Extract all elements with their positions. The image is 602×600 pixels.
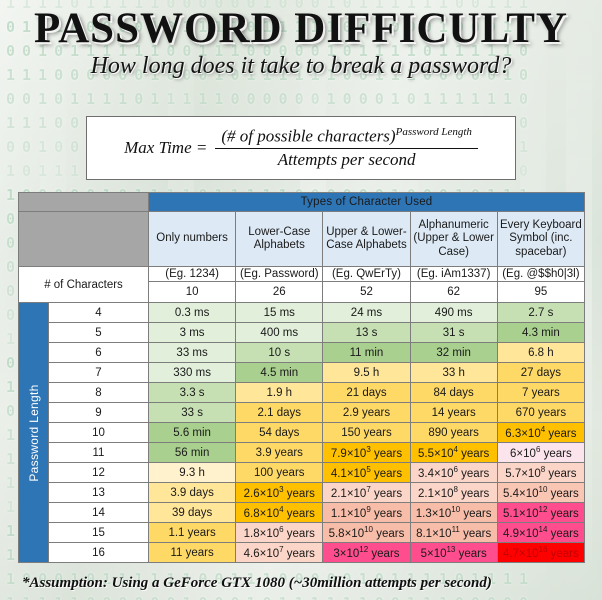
crack-time-cell: 330 ms xyxy=(149,363,236,383)
column-header-3: Alphanumeric (Upper & Lower Case) xyxy=(410,212,497,267)
value-exponent: 10 xyxy=(451,505,460,514)
row-length-label: 15 xyxy=(49,523,149,543)
value-mantissa: 1.3×10 xyxy=(416,508,452,520)
header: PASSWORD DIFFICULTY How long does it tak… xyxy=(0,0,602,112)
crack-time-cell: 6.3×104 years xyxy=(497,423,584,443)
value-mantissa: 6.3×10 xyxy=(505,428,541,440)
row-length-label: 13 xyxy=(49,483,149,503)
crack-time-cell: 670 years xyxy=(497,403,584,423)
value-mantissa: 4.1×10 xyxy=(331,468,367,480)
value-mantissa: 4.9×10 xyxy=(503,528,539,540)
crack-time-cell: 4.5 min xyxy=(236,363,323,383)
value-unit: years xyxy=(371,488,402,500)
crack-time-cell: 3 ms xyxy=(149,323,236,343)
crack-time-cell: 7.9×103 years xyxy=(323,443,410,463)
grid: Types of Character UsedOnly numbersLower… xyxy=(18,192,585,563)
table-header-row: Types of Character Used xyxy=(19,193,585,212)
column-names-row: Only numbersLower-Case AlphabetsUpper & … xyxy=(19,212,585,267)
table-row: 53 ms400 ms13 s31 s4.3 min xyxy=(19,323,585,343)
value-unit: years xyxy=(540,448,571,460)
crack-time-cell: 4.9×1014 years xyxy=(497,523,584,543)
crack-time-cell: 5×1013 years xyxy=(410,543,497,563)
crack-time-cell: 3.4×106 years xyxy=(410,463,497,483)
crack-time-cell: 3.3 s xyxy=(149,383,236,403)
row-length-label: 7 xyxy=(49,363,149,383)
table-row: 129.3 h100 years4.1×105 years3.4×106 yea… xyxy=(19,463,585,483)
crack-time-cell: 1.1×109 years xyxy=(323,503,410,523)
assumption-note: *Assumption: Using a GeForce GTX 1080 (~… xyxy=(22,575,492,592)
value-exponent: 11 xyxy=(452,525,460,534)
value-mantissa: 2.6×10 xyxy=(244,488,280,500)
column-header-0: Only numbers xyxy=(149,212,236,267)
crack-time-cell: 11 min xyxy=(323,343,410,363)
crack-time-cell: 11 years xyxy=(149,543,236,563)
crack-time-cell: 4.7×1016 years xyxy=(497,543,584,563)
crack-time-cell: 1.3×1010 years xyxy=(410,503,497,523)
crack-time-cell: 4.3 min xyxy=(497,323,584,343)
crack-time-cell: 3×1012 years xyxy=(323,543,410,563)
value-unit: years xyxy=(284,508,315,520)
crack-time-cell: 5.7×108 years xyxy=(497,463,584,483)
crack-time-cell: 490 ms xyxy=(410,303,497,323)
value-mantissa: 5×10 xyxy=(421,548,447,560)
crack-time-cell: 6.8×104 years xyxy=(236,503,323,523)
table-row: 933 s2.1 days2.9 years14 years670 years xyxy=(19,403,585,423)
value-mantissa: 3.4×10 xyxy=(418,468,454,480)
crack-time-cell: 24 ms xyxy=(323,303,410,323)
crack-time-cell: 5.5×104 years xyxy=(410,443,497,463)
crack-time-cell: 5.8×1010 years xyxy=(323,523,410,543)
value-unit: years xyxy=(371,468,402,480)
crack-time-cell: 0.3 ms xyxy=(149,303,236,323)
crack-time-cell: 33 h xyxy=(410,363,497,383)
value-unit: years xyxy=(455,548,486,560)
page-title: PASSWORD DIFFICULTY xyxy=(0,0,602,51)
table-row: 1156 min3.9 years7.9×103 years5.5×104 ye… xyxy=(19,443,585,463)
charset-size-1: 26 xyxy=(236,282,323,303)
table-row: 151.1 years1.8×106 years5.8×1010 years8.… xyxy=(19,523,585,543)
crack-time-cell: 9.5 h xyxy=(323,363,410,383)
crack-time-cell: 5.1×1012 years xyxy=(497,503,584,523)
table-row: Password Length40.3 ms15 ms24 ms490 ms2.… xyxy=(19,303,585,323)
crack-time-cell: 6.8 h xyxy=(497,343,584,363)
crack-time-cell: 14 years xyxy=(410,403,497,423)
value-unit: years xyxy=(547,528,578,540)
value-mantissa: 5.5×10 xyxy=(418,448,454,460)
formula-fraction: (# of possible characters)Password Lengt… xyxy=(215,126,478,170)
value-unit: years xyxy=(460,528,491,540)
value-mantissa: 3×10 xyxy=(333,548,359,560)
crack-time-cell: 2.6×103 years xyxy=(236,483,323,503)
crack-time-cell: 7 years xyxy=(497,383,584,403)
formula-exponent: Password Length xyxy=(396,126,472,138)
crack-time-cell: 2.1 days xyxy=(236,403,323,423)
row-length-label: 11 xyxy=(49,443,149,463)
crack-time-cell: 150 years xyxy=(323,423,410,443)
row-length-label: 16 xyxy=(49,543,149,563)
crack-time-cell: 1.8×106 years xyxy=(236,523,323,543)
column-example-0: (Eg. 1234) xyxy=(149,267,236,282)
row-length-label: 8 xyxy=(49,383,149,403)
value-unit: years xyxy=(547,548,578,560)
crack-time-cell: 6×106 years xyxy=(497,443,584,463)
crack-time-cell: 400 ms xyxy=(236,323,323,343)
table-row: 1439 days6.8×104 years1.1×109 years1.3×1… xyxy=(19,503,585,523)
crack-time-cell: 2.9 years xyxy=(323,403,410,423)
value-mantissa: 1.8×10 xyxy=(244,528,280,540)
value-mantissa: 4.7×10 xyxy=(503,548,539,560)
charset-size-3: 62 xyxy=(410,282,497,303)
crack-time-cell: 33 s xyxy=(149,403,236,423)
crack-time-cell: 13 s xyxy=(323,323,410,343)
column-header-4: Every Keyboard Symbol (inc. spacebar) xyxy=(497,212,584,267)
value-mantissa: 5.7×10 xyxy=(505,468,541,480)
footer: *Assumption: Using a GeForce GTX 1080 (~… xyxy=(0,566,602,600)
formula: Max Time = (# of possible characters)Pas… xyxy=(124,126,478,170)
value-unit: years xyxy=(284,488,315,500)
crack-time-cell: 39 days xyxy=(149,503,236,523)
crack-time-cell: 890 years xyxy=(410,423,497,443)
value-mantissa: 2.1×10 xyxy=(418,488,454,500)
value-mantissa: 5.4×10 xyxy=(503,488,539,500)
value-unit: years xyxy=(458,468,489,480)
charset-size-0: 10 xyxy=(149,282,236,303)
crack-time-cell: 54 days xyxy=(236,423,323,443)
value-mantissa: 2.1×10 xyxy=(331,488,367,500)
crack-time-cell: 3.9 days xyxy=(149,483,236,503)
table-row: 633 ms10 s11 min32 min6.8 h xyxy=(19,343,585,363)
crack-time-cell: 1.1 years xyxy=(149,523,236,543)
value-unit: years xyxy=(373,528,404,540)
side-label-password-length: Password Length xyxy=(19,303,49,563)
crack-time-cell: 5.4×1010 years xyxy=(497,483,584,503)
charset-size-2: 52 xyxy=(323,282,410,303)
formula-denominator: Attempts per second xyxy=(272,149,422,170)
corner-block xyxy=(19,193,149,212)
row-length-label: 9 xyxy=(49,403,149,423)
table-row: 133.9 days2.6×103 years2.1×107 years2.1×… xyxy=(19,483,585,503)
crack-time-cell: 8.1×1011 years xyxy=(410,523,497,543)
column-example-3: (Eg. iAm1337) xyxy=(410,267,497,282)
formula-lhs: Max Time = xyxy=(124,138,207,158)
value-mantissa: 5.8×10 xyxy=(329,528,365,540)
value-unit: years xyxy=(368,548,399,560)
value-mantissa: 6.8×10 xyxy=(244,508,280,520)
value-mantissa: 7.9×10 xyxy=(331,448,367,460)
value-unit: years xyxy=(458,448,489,460)
crack-time-cell: 27 days xyxy=(497,363,584,383)
row-length-label: 12 xyxy=(49,463,149,483)
table-row: 1611 years4.6×107 years3×1012 years5×101… xyxy=(19,543,585,563)
crack-time-cell: 33 ms xyxy=(149,343,236,363)
table-row: 83.3 s1.9 h21 days84 days7 years xyxy=(19,383,585,403)
value-mantissa: 4.6×10 xyxy=(244,548,280,560)
row-length-label: 4 xyxy=(49,303,149,323)
crack-time-cell: 2.7 s xyxy=(497,303,584,323)
value-unit: years xyxy=(545,428,576,440)
crack-time-cell: 1.9 h xyxy=(236,383,323,403)
formula-numerator: (# of possible characters)Password Lengt… xyxy=(215,126,478,148)
crack-time-cell: 32 min xyxy=(410,343,497,363)
crack-time-cell: 31 s xyxy=(410,323,497,343)
value-unit: years xyxy=(547,508,578,520)
crack-time-cell: 10 s xyxy=(236,343,323,363)
column-header-2: Upper & Lower-Case Alphabets xyxy=(323,212,410,267)
value-unit: years xyxy=(458,488,489,500)
value-mantissa: 6×10 xyxy=(510,448,536,460)
table-row: 105.6 min54 days150 years890 years6.3×10… xyxy=(19,423,585,443)
password-difficulty-table: Types of Character UsedOnly numbersLower… xyxy=(18,192,584,563)
value-exponent: 12 xyxy=(359,545,368,554)
crack-time-cell: 3.9 years xyxy=(236,443,323,463)
crack-time-cell: 4.1×105 years xyxy=(323,463,410,483)
value-unit: years xyxy=(371,448,402,460)
table-row: 7330 ms4.5 min9.5 h33 h27 days xyxy=(19,363,585,383)
row-length-label: 5 xyxy=(49,323,149,343)
value-unit: years xyxy=(371,508,402,520)
column-example-4: (Eg. @$$h0|3l) xyxy=(497,267,584,282)
value-mantissa: 1.1×10 xyxy=(331,508,367,520)
column-header-1: Lower-Case Alphabets xyxy=(236,212,323,267)
value-mantissa: 8.1×10 xyxy=(416,528,452,540)
column-example-2: (Eg. QwErTy) xyxy=(323,267,410,282)
page-subtitle: How long does it take to break a passwor… xyxy=(0,53,602,80)
value-exponent: 10 xyxy=(364,525,373,534)
crack-time-cell: 2.1×107 years xyxy=(323,483,410,503)
corner-block-lower xyxy=(19,212,149,267)
crack-time-cell: 100 years xyxy=(236,463,323,483)
value-unit: years xyxy=(547,488,578,500)
char-count-label: # of Characters xyxy=(19,267,149,303)
crack-time-cell: 56 min xyxy=(149,443,236,463)
crack-time-cell: 15 ms xyxy=(236,303,323,323)
value-unit: years xyxy=(284,528,315,540)
crack-time-cell: 5.6 min xyxy=(149,423,236,443)
value-mantissa: 5.1×10 xyxy=(503,508,539,520)
row-length-label: 6 xyxy=(49,343,149,363)
row-length-label: 10 xyxy=(49,423,149,443)
row-length-label: 14 xyxy=(49,503,149,523)
crack-time-cell: 2.1×108 years xyxy=(410,483,497,503)
crack-time-cell: 4.6×107 years xyxy=(236,543,323,563)
group-header: Types of Character Used xyxy=(149,193,585,212)
crack-time-cell: 9.3 h xyxy=(149,463,236,483)
side-label-text: Password Length xyxy=(27,384,41,481)
example-row: # of Characters(Eg. 1234)(Eg. Password)(… xyxy=(19,267,585,282)
charset-size-4: 95 xyxy=(497,282,584,303)
value-unit: years xyxy=(284,548,315,560)
crack-time-cell: 84 days xyxy=(410,383,497,403)
value-unit: years xyxy=(545,468,576,480)
column-example-1: (Eg. Password) xyxy=(236,267,323,282)
value-unit: years xyxy=(460,508,491,520)
crack-time-cell: 21 days xyxy=(323,383,410,403)
formula-box: Max Time = (# of possible characters)Pas… xyxy=(86,116,516,180)
